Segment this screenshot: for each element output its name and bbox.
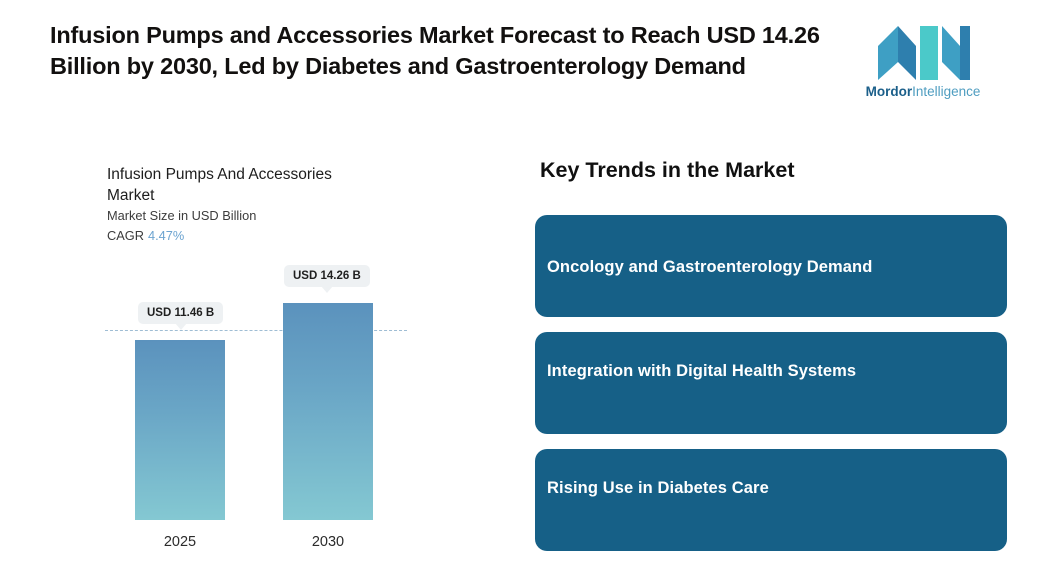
brand-logo: MordorIntelligence [858,24,988,109]
bar-2025 [135,340,225,520]
chart-subtitle: Market Size in USD Billion [107,208,256,223]
infographic-page: Infusion Pumps and Accessories Market Fo… [0,0,1039,586]
x-axis-label-2025: 2025 [135,534,225,550]
mordor-intelligence-logo-icon [876,24,972,82]
cagr-value: 4.47% [148,228,184,243]
trend-card-label: Rising Use in Diabetes Care [547,479,769,498]
brand-name-primary: Mordor [866,84,913,99]
bar-2030 [283,303,373,520]
bar-value-label-2030: USD 14.26 B [284,265,370,287]
brand-name: MordorIntelligence [858,84,988,99]
chart-title: Infusion Pumps And Accessories Market [107,164,369,206]
page-header: Infusion Pumps and Accessories Market Fo… [0,0,1039,130]
trend-card-label: Integration with Digital Health Systems [547,362,856,381]
bar-value-label-2025: USD 11.46 B [138,302,223,324]
x-axis-label-2030: 2030 [283,534,373,550]
chart-plot-area: USD 11.46 B USD 14.26 B 2025 2030 Source… [95,260,425,586]
trend-card-label: Oncology and Gastroenterology Demand [547,258,872,277]
chart-cagr: CAGR4.47% [107,228,184,243]
trend-card-diabetes-care[interactable]: Rising Use in Diabetes Care [535,449,1007,551]
trend-card-digital-health[interactable]: Integration with Digital Health Systems [535,332,1007,434]
key-trends-panel: Key Trends in the Market Oncology and Ga… [535,150,1007,570]
cagr-label: CAGR [107,228,144,243]
market-size-chart: Infusion Pumps And Accessories Market Ma… [95,140,425,560]
brand-name-secondary: Intelligence [912,84,980,99]
key-trends-title: Key Trends in the Market [540,158,795,183]
trend-card-oncology-gastroenterology[interactable]: Oncology and Gastroenterology Demand [535,215,1007,317]
page-title: Infusion Pumps and Accessories Market Fo… [50,20,840,82]
